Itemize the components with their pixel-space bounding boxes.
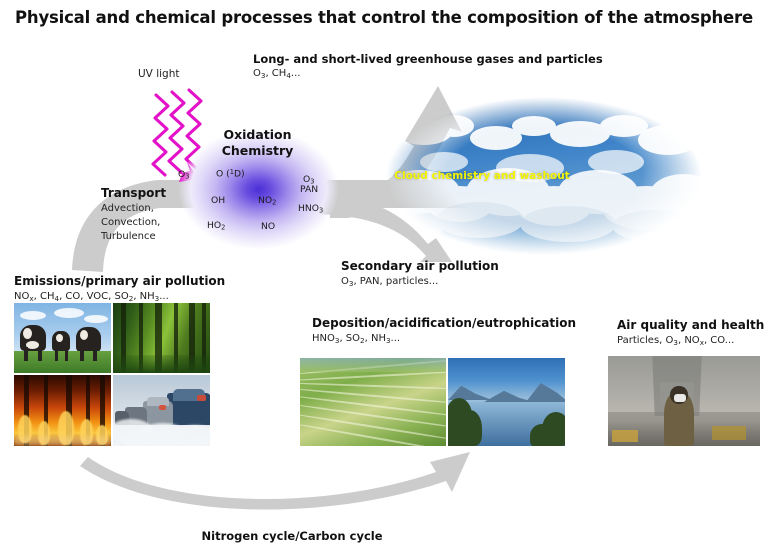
oxidation-line-1: Oxidation	[200, 127, 315, 143]
greenhouse-gases-title: Long- and short-lived greenhouse gases a…	[253, 52, 603, 66]
transport-title: Transport	[101, 186, 166, 201]
emissions-block: Emissions/primary air pollution NOx, CH4…	[14, 274, 225, 303]
species-hno3: HNO3	[298, 203, 323, 215]
photo-smog-city	[608, 356, 760, 446]
emissions-photo-collage	[14, 303, 210, 446]
photo-lake	[448, 358, 565, 446]
species-pan: PAN	[300, 184, 318, 195]
photo-forest	[113, 303, 210, 373]
oxidation-line-2: Chemistry	[200, 143, 315, 159]
emissions-title: Emissions/primary air pollution	[14, 274, 225, 289]
face-mask	[674, 394, 686, 402]
airquality-species: Particles, O3, NOx, CO...	[617, 334, 764, 347]
transport-block: Transport Advection, Convection, Turbule…	[101, 186, 166, 243]
deposition-block: Deposition/acidification/eutrophication …	[312, 316, 576, 345]
photo-cattle	[14, 303, 111, 373]
photo-rice-terraces	[300, 358, 446, 446]
deposition-photo-pair	[300, 358, 565, 446]
greenhouse-gases-block: Long- and short-lived greenhouse gases a…	[253, 52, 603, 81]
species-oh: OH	[211, 195, 225, 206]
species-no: NO	[261, 221, 275, 232]
uv-light-label: UV light	[138, 68, 179, 80]
nitrogen-carbon-cycle-arrow	[80, 452, 470, 510]
photo-traffic	[113, 375, 210, 446]
secondary-pollution-species: O3, PAN, particles...	[341, 275, 499, 288]
species-ho2: HO2	[207, 220, 225, 232]
species-o1d: O (1D)	[216, 168, 245, 180]
cloud-chemistry-label: Cloud chemistry and washout	[382, 170, 582, 182]
greenhouse-gases-species: O3, CH4...	[253, 67, 603, 80]
species-o3-reactant: O3	[178, 169, 189, 181]
oxidation-chemistry-title: Oxidation Chemistry	[200, 127, 315, 160]
secondary-pollution-block: Secondary air pollution O3, PAN, particl…	[341, 259, 499, 288]
airquality-title: Air quality and health	[617, 318, 764, 333]
deposition-species: HNO3, SO2, NH3...	[312, 332, 576, 345]
photo-wildfire	[14, 375, 111, 446]
secondary-pollution-title: Secondary air pollution	[341, 259, 499, 274]
emissions-species: NOx, CH4, CO, VOC, SO2, NH3...	[14, 290, 225, 303]
transport-line-3: Turbulence	[101, 230, 166, 243]
airquality-block: Air quality and health Particles, O3, NO…	[617, 318, 764, 347]
deposition-title: Deposition/acidification/eutrophication	[312, 316, 576, 331]
nitrogen-carbon-cycle-label: Nitrogen cycle/Carbon cycle	[0, 529, 584, 543]
transport-line-2: Convection,	[101, 216, 166, 229]
transport-line-1: Advection,	[101, 202, 166, 215]
species-no2: NO2	[258, 195, 276, 207]
